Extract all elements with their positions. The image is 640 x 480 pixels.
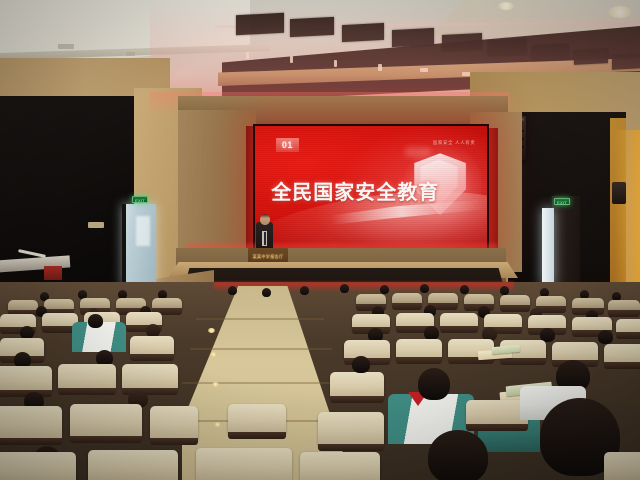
audience-head [380, 285, 389, 294]
exit-sign-right-label: EXIT [555, 199, 569, 204]
audience-head [300, 286, 309, 295]
screen-corner-note: 国家安全 人人有责 [433, 140, 476, 146]
audience-seat [196, 448, 292, 480]
audience-seat [70, 404, 142, 438]
audience-seat [536, 296, 566, 308]
audience-head [352, 356, 370, 373]
door-left-light-spill [136, 216, 150, 246]
audience-seat [122, 364, 178, 390]
audience-head [262, 288, 271, 297]
ceiling-spotlight [420, 68, 428, 72]
slide-headline: 全民国家安全教育 [271, 176, 439, 205]
audience-seat [0, 406, 62, 440]
student-head [418, 368, 450, 400]
aisle-step-light [212, 382, 219, 387]
audience-head [420, 284, 429, 293]
ceiling-spotlight [378, 64, 382, 71]
ceiling-downlight [498, 2, 514, 10]
ceiling-acoustic-panel [574, 49, 608, 65]
audience-seat [8, 300, 38, 312]
audience-seat [300, 452, 380, 480]
led-screen: 01 国家安全 人人有责 全民国家安全教育 [255, 126, 487, 250]
led-screen-frame: 01 国家安全 人人有责 全民国家安全教育 [253, 124, 489, 252]
audience-seat [604, 344, 640, 364]
aisle-step-light [210, 352, 217, 357]
audience-seat [330, 372, 384, 398]
ceiling-acoustic-panel [488, 39, 526, 56]
aisle-step-edge [190, 348, 332, 350]
audience-seat [464, 294, 494, 306]
audience-seat [150, 406, 198, 440]
audience-seat [396, 339, 442, 359]
exit-sign-left-label: EXIT [133, 197, 147, 202]
audience-head [500, 286, 509, 295]
audience-seat [0, 452, 76, 480]
ceiling-acoustic-panel [342, 23, 384, 42]
wall-right-amber-glow [614, 130, 640, 300]
audience-head [598, 330, 613, 344]
aisle-step-edge [196, 318, 324, 320]
aisle-step-light [208, 328, 215, 333]
audience-seat [428, 293, 458, 305]
audience-seat [318, 412, 384, 446]
presenter-tie [264, 232, 266, 245]
slide-number-badge: 01 [276, 138, 299, 152]
auditorium-photo: SPEAKER SPEAKER 01 国家安全 人人有责 全民国家安全教育 [0, 0, 640, 480]
wall-left-dark-curtain [0, 96, 142, 286]
audience-head [228, 286, 237, 295]
presenter-head [260, 214, 270, 225]
podium-label: 某某中学报告厅 [248, 254, 288, 260]
ceiling-acoustic-panel [442, 33, 482, 51]
student-head [88, 314, 103, 328]
ceiling-spotlight [290, 56, 293, 63]
ceiling-acoustic-panel [392, 28, 434, 47]
audience-seat [604, 452, 640, 480]
audience-seat [608, 300, 640, 312]
audience-seat [352, 314, 390, 329]
ceiling-acoustic-panel [290, 17, 334, 37]
audience-seat [228, 404, 286, 434]
audience-seat [440, 313, 478, 328]
ceiling-vent [58, 44, 74, 49]
audience-seat [356, 294, 386, 306]
audience-seat [44, 299, 74, 311]
foreground-head [428, 430, 488, 480]
audience-seat [552, 342, 598, 362]
ceiling-spotlight [334, 60, 337, 67]
audience-seat [344, 340, 390, 360]
audience-head [460, 285, 469, 294]
exit-sign-right: EXIT [554, 198, 570, 205]
aisle-step-light [214, 422, 221, 427]
audience-seat [0, 366, 52, 392]
exit-sign-left: EXIT [132, 196, 148, 203]
audience-seat [616, 319, 640, 334]
audience-seat [500, 295, 530, 307]
aisle-step-edge [182, 382, 340, 384]
ceiling-acoustic-panel [612, 54, 640, 69]
wall-mounted-speaker-right [612, 182, 626, 204]
ceiling-downlight [608, 6, 632, 18]
ceiling-acoustic-panel [532, 44, 568, 61]
audience-head [340, 284, 349, 293]
audience-seat [152, 298, 182, 310]
door-right-panel[interactable] [552, 196, 580, 288]
door-right-open[interactable] [542, 208, 554, 286]
ceiling-vent [126, 52, 135, 56]
audience-seat [466, 400, 528, 426]
ceiling-acoustic-panel [236, 13, 284, 36]
av-equipment-case [44, 266, 62, 280]
audience-seat [58, 364, 116, 390]
audience-seat [392, 293, 422, 305]
screen-light-blob [405, 147, 431, 157]
wall-notice-plate [88, 222, 104, 228]
audience-head [424, 326, 439, 340]
ceiling-spotlight [246, 52, 249, 59]
audience-seat [130, 336, 174, 356]
audience-seat [88, 450, 178, 480]
audience-seat [572, 298, 604, 310]
